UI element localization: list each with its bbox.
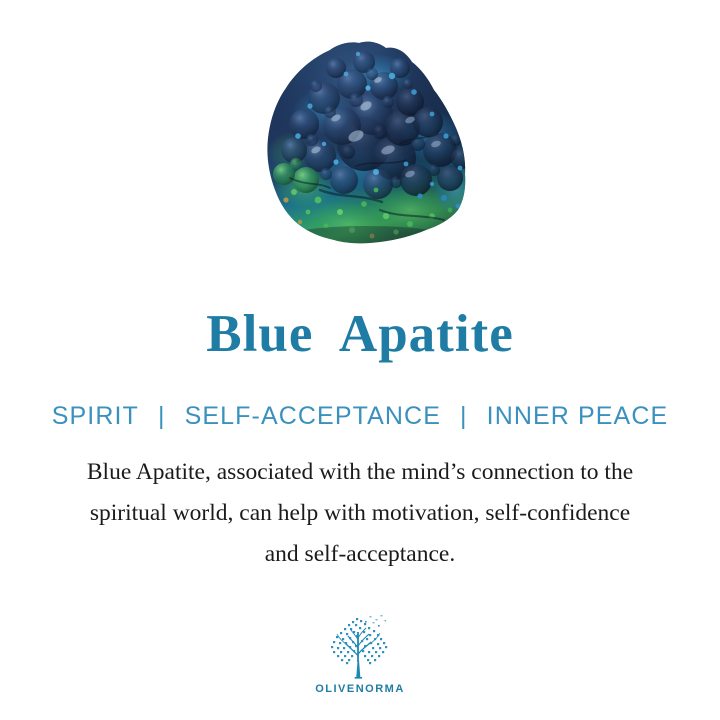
- keyword-self-acceptance: SELF-ACCEPTANCE: [185, 401, 441, 431]
- description-line: spiritual world, can help with motivatio…: [36, 493, 684, 534]
- page-title: Blue Apatite: [0, 304, 720, 364]
- product-info-card: Blue Apatite SPIRIT | SELF-ACCEPTANCE | …: [0, 0, 720, 720]
- description-line: and self-acceptance.: [36, 534, 684, 575]
- tree-with-birds-icon: [322, 612, 398, 680]
- brand-wordmark: OLIVENORMA: [315, 683, 405, 695]
- blue-apatite-specimen-image: [260, 40, 474, 248]
- keyword-separator: |: [147, 401, 177, 431]
- brand-logo: OLIVENORMA: [0, 612, 720, 695]
- description-text: Blue Apatite, associated with the mind’s…: [36, 452, 684, 575]
- keyword-spirit: SPIRIT: [52, 401, 139, 431]
- keyword-separator: |: [449, 401, 479, 431]
- description-line: Blue Apatite, associated with the mind’s…: [36, 452, 684, 493]
- keyword-list: SPIRIT | SELF-ACCEPTANCE | INNER PEACE: [0, 401, 720, 431]
- keyword-inner-peace: INNER PEACE: [487, 401, 669, 431]
